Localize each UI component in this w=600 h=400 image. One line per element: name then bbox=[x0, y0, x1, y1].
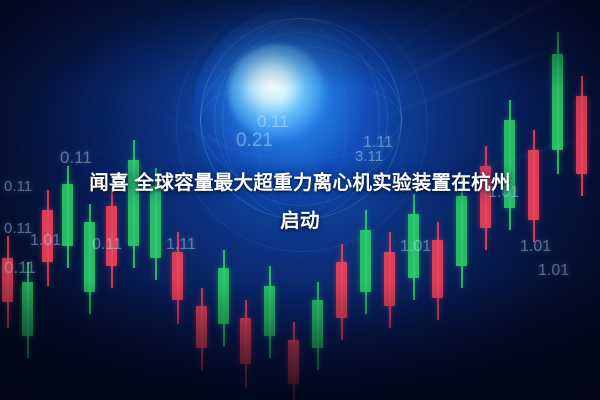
news-image: 0.110.211.113.110.110.111.010.111.010.11… bbox=[0, 0, 600, 400]
headline-text: 闻喜 全球容量最大超重力离心机实验装置在杭州 启动 bbox=[0, 164, 600, 240]
headline-line-2: 启动 bbox=[280, 210, 320, 232]
headline-line-1: 闻喜 全球容量最大超重力离心机实验装置在杭州 bbox=[89, 172, 511, 194]
